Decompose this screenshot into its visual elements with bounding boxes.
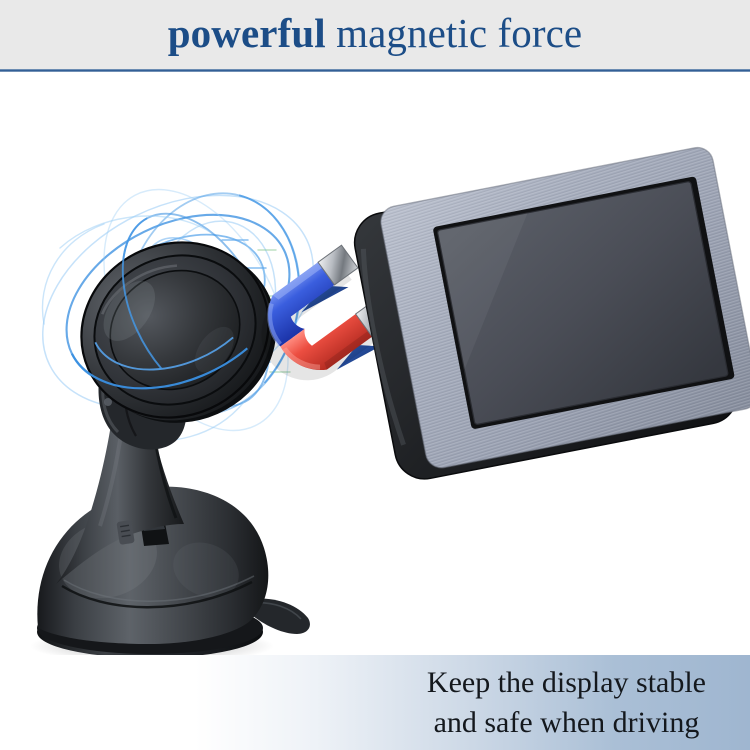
footer-caption-line-1: Keep the display stable bbox=[427, 663, 706, 703]
page-title-emphasis: powerful bbox=[168, 10, 326, 56]
page-title-space bbox=[326, 10, 336, 56]
product-illustration-stage bbox=[0, 72, 750, 655]
footer-caption-line-2: and safe when driving bbox=[427, 703, 706, 743]
car-display-monitor bbox=[349, 145, 750, 484]
product-illustration bbox=[0, 72, 750, 655]
magnetic-car-mount bbox=[30, 195, 322, 655]
footer-caption-banner: Keep the display stable and safe when dr… bbox=[0, 655, 750, 750]
product-marketing-image: powerful magnetic force bbox=[0, 0, 750, 750]
footer-caption: Keep the display stable and safe when dr… bbox=[427, 663, 750, 742]
page-title: powerful magnetic force bbox=[168, 13, 582, 57]
header-banner: powerful magnetic force bbox=[0, 0, 750, 69]
page-title-remainder: magnetic force bbox=[336, 10, 582, 56]
